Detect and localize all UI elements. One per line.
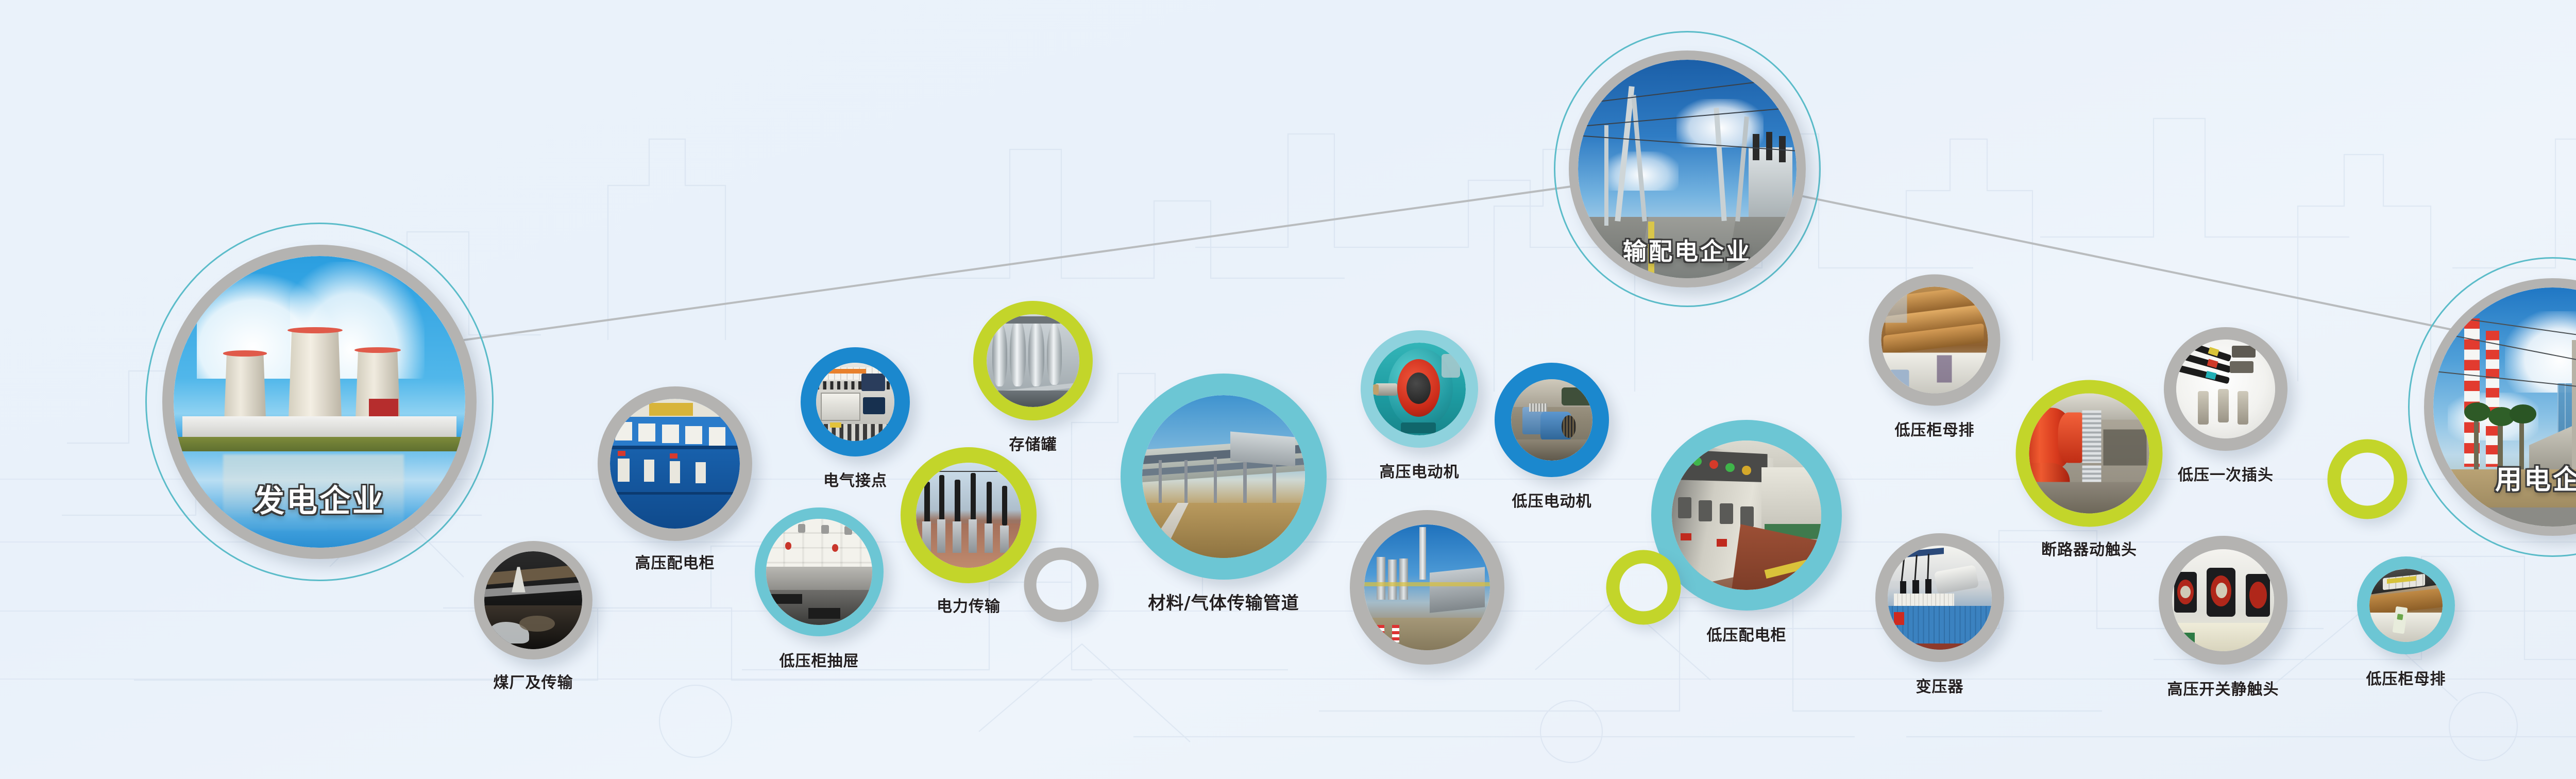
photo-red-epoxy-breaker-poles	[2029, 394, 2149, 514]
photo-blue-hv-switchgear	[610, 399, 740, 529]
hero-label-transmission-distribution: 输配电企业	[1623, 233, 1752, 267]
caption-lv-cabinet-busbar-right: 低压柜母排	[2366, 666, 2446, 689]
node-material-gas-pipeline[interactable]	[1121, 374, 1327, 580]
hero-label-power-consumption: 用电企业	[2495, 458, 2576, 497]
caption-coal-plant-transport: 煤厂及传输	[494, 670, 573, 692]
photo-lv-busbar-terminals	[2369, 569, 2443, 642]
hollow-ring-lime-mid	[1606, 550, 1681, 625]
hollow-ring-gray-left	[1024, 548, 1099, 622]
caption-electrical-contact: 电气接点	[823, 468, 887, 490]
node-lv-cabinet-drawer[interactable]	[755, 507, 884, 636]
caption-lv-cabinet-drawer: 低压柜抽屉	[779, 648, 859, 671]
photo-pipe-rack-corridor	[1142, 395, 1305, 558]
photo-lv-switchgear-row	[1672, 441, 1821, 590]
photo-lv-primary-plug-contacts	[2176, 340, 2275, 438]
node-lv-primary-plug[interactable]	[2164, 327, 2287, 451]
photo-hv-switchyard-insulators	[916, 463, 1021, 568]
caption-hv-switchgear-cabinet: 高压配电柜	[635, 550, 715, 573]
node-transmission-distribution[interactable]: 输配电企业	[1569, 50, 1806, 287]
node-power-transmission[interactable]	[901, 447, 1037, 583]
photo-coal-conveyor	[484, 551, 582, 649]
hero-label-power-generation: 发电企业	[253, 476, 385, 521]
node-electrical-contact[interactable]	[801, 347, 910, 456]
photo-copper-busbar-stack	[1882, 287, 1988, 394]
photo-chemical-plant-stack	[1364, 524, 1490, 650]
photo-oil-transformer	[1888, 546, 1992, 650]
node-transformer[interactable]	[1875, 533, 2004, 662]
node-lv-motor[interactable]	[1495, 363, 1609, 477]
caption-power-transmission: 电力传输	[937, 594, 1001, 616]
node-power-generation[interactable]: 发电企业	[162, 245, 477, 559]
node-storage-tank[interactable]	[973, 301, 1093, 420]
caption-lv-distribution-cabinet: 低压配电柜	[1707, 622, 1787, 645]
node-coal-plant-transport[interactable]	[474, 541, 592, 659]
photo-steel-storage-tanks	[987, 314, 1079, 407]
node-power-consumption[interactable]: 用电企业	[2424, 278, 2576, 536]
node-hv-switch-fixed-contact[interactable]	[2159, 536, 2287, 665]
caption-hv-motor: 高压电动机	[1380, 459, 1460, 482]
caption-lv-primary-plug: 低压一次插头	[2178, 462, 2274, 485]
photo-terminal-block-wiring	[816, 363, 894, 441]
node-hv-switchgear-cabinet[interactable]	[598, 386, 752, 541]
caption-transformer: 变压器	[1916, 674, 1964, 697]
node-hv-motor[interactable]	[1361, 330, 1478, 448]
photo-hv-switch-fixed-contacts	[2172, 549, 2274, 651]
caption-material-gas-pipeline: 材料/气体传输管道	[1148, 589, 1299, 614]
energy-chain-poster: 发电企业	[0, 0, 2576, 779]
caption-hv-switch-fixed-contact: 高压开关静触头	[2167, 676, 2279, 699]
node-breaker-moving-contact[interactable]	[2016, 380, 2163, 527]
node-lv-cabinet-busbar-right[interactable]	[2357, 556, 2455, 654]
photo-small-blue-lv-motor	[1511, 379, 1592, 461]
caption-lv-cabinet-busbar-top: 低压柜母排	[1895, 417, 1975, 440]
hollow-ring-lime-right	[2328, 439, 2408, 519]
caption-lv-motor: 低压电动机	[1512, 488, 1592, 511]
photo-lv-cabinet-drawer-unit	[766, 519, 872, 625]
node-lv-cabinet-busbar-top[interactable]	[1869, 275, 2001, 406]
node-chemical-plant-stack[interactable]	[1350, 510, 1504, 665]
photo-large-hv-motor	[1373, 343, 1466, 435]
caption-breaker-moving-contact: 断路器动触头	[2041, 537, 2137, 560]
